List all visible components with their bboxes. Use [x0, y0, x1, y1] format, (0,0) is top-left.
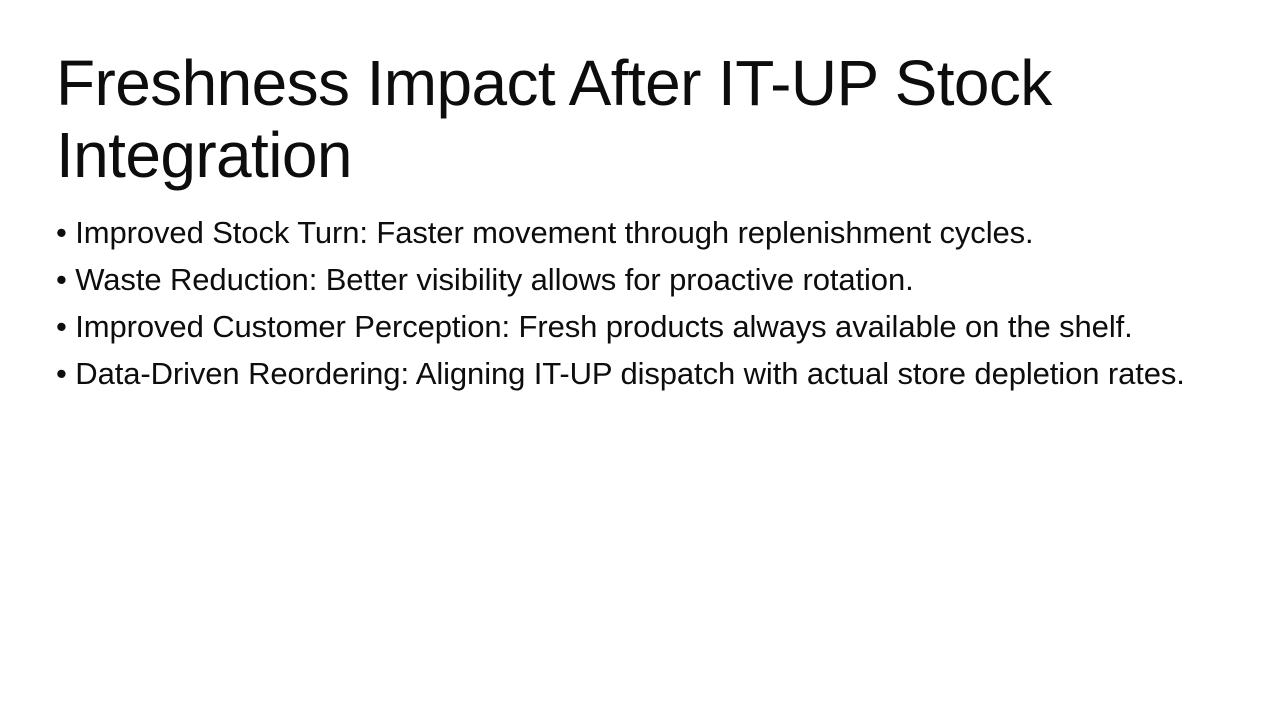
bullet-point-icon: • — [56, 309, 67, 344]
list-item: • Data-Driven Reordering: Aligning IT-UP… — [56, 354, 1220, 393]
list-item-text: Improved Stock Turn: Faster movement thr… — [75, 215, 1033, 250]
bullet-point-icon: • — [56, 262, 67, 297]
list-item: • Improved Customer Perception: Fresh pr… — [56, 307, 1220, 346]
bullet-point-icon: • — [56, 215, 67, 250]
bullet-list: • Improved Stock Turn: Faster movement t… — [56, 213, 1220, 393]
bullet-point-icon: • — [56, 356, 67, 391]
list-item: • Improved Stock Turn: Faster movement t… — [56, 213, 1220, 252]
list-item: • Waste Reduction: Better visibility all… — [56, 260, 1220, 299]
list-item-text: Improved Customer Perception: Fresh prod… — [75, 309, 1132, 344]
list-item-text: Data-Driven Reordering: Aligning IT-UP d… — [75, 356, 1185, 391]
slide-canvas: Freshness Impact After IT-UP Stock Integ… — [0, 0, 1280, 720]
page-title: Freshness Impact After IT-UP Stock Integ… — [56, 47, 1066, 191]
list-item-text: Waste Reduction: Better visibility allow… — [75, 262, 913, 297]
